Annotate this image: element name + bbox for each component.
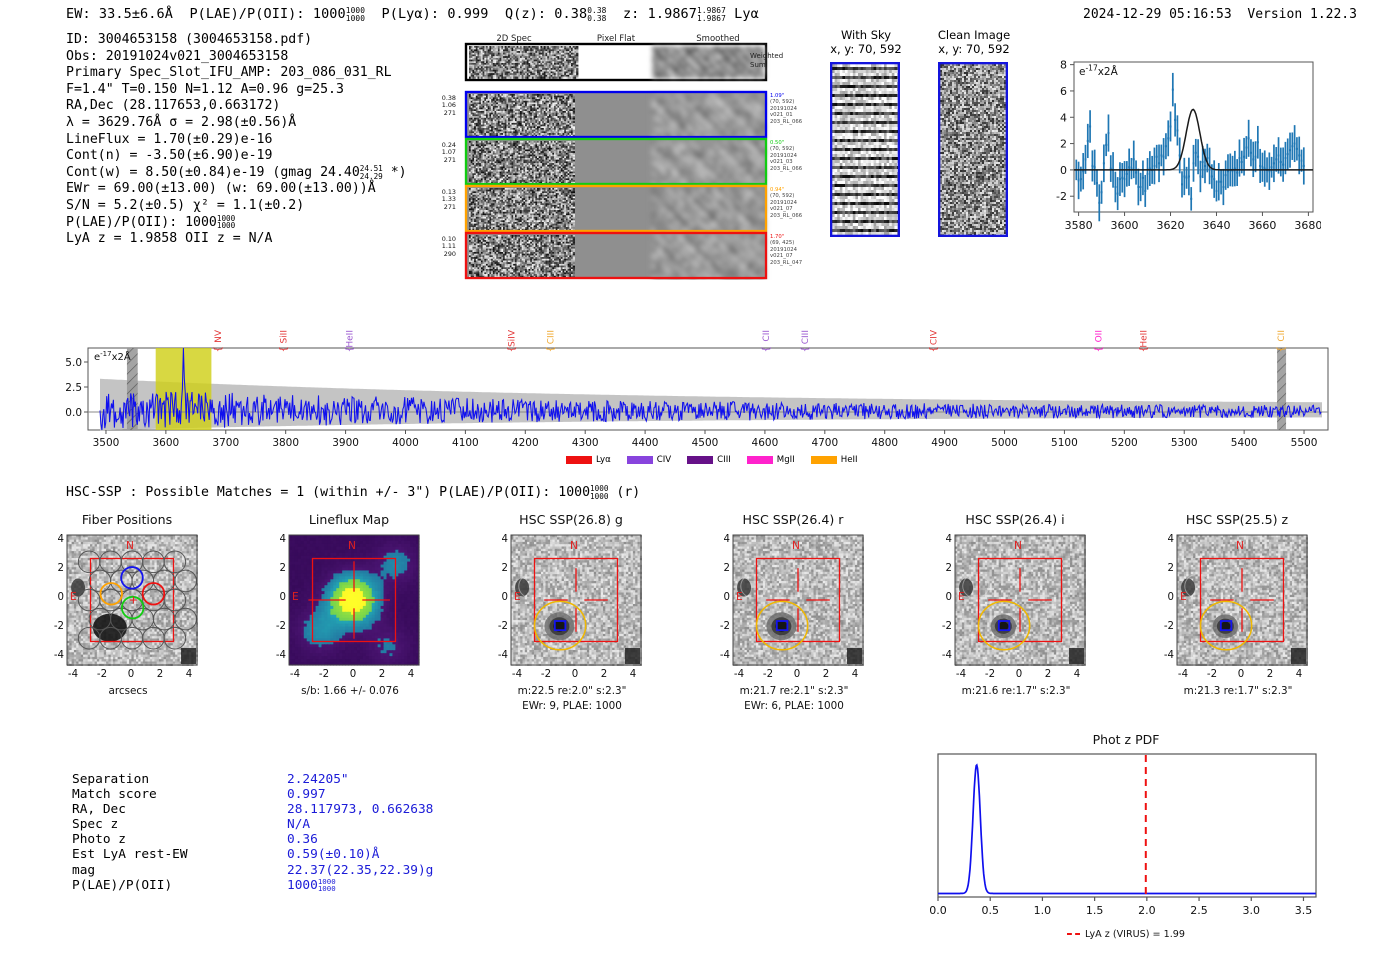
- cutout-title: HSC SSP(26.8) g: [476, 512, 666, 527]
- cutout-ytick: -4: [40, 650, 64, 661]
- timestamp-version: 2024-12-29 05:16:53 Version 1.22.3: [1083, 7, 1357, 22]
- cutout-xtick: -4: [59, 669, 87, 680]
- cutout-image-grey[interactable]: [1176, 534, 1308, 666]
- cutout-ytick: 0: [928, 592, 952, 603]
- match-table-value: 2.24205": [287, 772, 433, 787]
- cutout-xtick: 4: [175, 669, 203, 680]
- spec2d-row-metric: 0.131.33271: [412, 189, 456, 211]
- match-table-label: Est LyA rest-EW: [72, 847, 188, 862]
- cutout-ytick: 0: [1150, 592, 1174, 603]
- cutout-title: Lineflux Map: [254, 512, 444, 527]
- cutout-ytick: 2: [262, 563, 286, 574]
- info-primary-spec: Primary Spec_Slot_IFU_AMP: 203_086_031_R…: [66, 65, 407, 82]
- hsc-ssp-header: HSC-SSP : Possible Matches = 1 (within +…: [66, 485, 640, 501]
- info-cont-n: Cont(n) = -3.50(±6.90)e-19: [66, 148, 407, 165]
- spec2d-row-metric: 0.241.07271: [412, 142, 456, 164]
- compass-north: N: [1236, 540, 1244, 552]
- info-lambda: λ = 3629.76Å σ = 2.98(±0.56)Å: [66, 115, 407, 132]
- info-params: F=1.4" T=0.150 N=1.12 A=0.96 g=25.3: [66, 82, 407, 99]
- cutout-ytick: 0: [484, 592, 508, 603]
- info-z: LyA z = 1.9858 OII z = N/A: [66, 231, 407, 248]
- compass-east: E: [70, 591, 77, 603]
- spectrum-legend: LyαCIVCIIIMgIIHeII: [566, 455, 874, 466]
- header-z-range: 1.98671.9867: [697, 7, 726, 23]
- compass-north: N: [348, 540, 356, 552]
- info-obs: Obs: 20191024v021_3004653158: [66, 49, 407, 66]
- cutout-ytick: -2: [1150, 621, 1174, 632]
- cutout-caption-1: m:22.5 re:2.0" s:2.3": [472, 685, 672, 697]
- spec2d-row-metric: 0.101.11290: [412, 236, 456, 258]
- header-qz-range: 0.380.38: [587, 7, 606, 23]
- summary-header: EW: 33.5±6.6Å P(LAE)/P(OII): 10001000100…: [66, 6, 759, 23]
- weighted-sum-label: WeightedSum: [750, 52, 810, 70]
- match-table-label: Photo z: [72, 832, 188, 847]
- cutout-ytick: 2: [706, 563, 730, 574]
- cutout-ytick: -4: [1150, 650, 1174, 661]
- cutout-ytick: -2: [928, 621, 952, 632]
- cutout-xtick: -2: [1198, 669, 1226, 680]
- sky-panel-title: With Skyx, y: 70, 592: [818, 28, 914, 56]
- match-table-label: Match score: [72, 787, 188, 802]
- cutout-caption-1: arcsecs: [28, 685, 228, 697]
- cutout-xtick: 4: [397, 669, 425, 680]
- cutout-ytick: -4: [706, 650, 730, 661]
- cutout-xtick: -2: [532, 669, 560, 680]
- cutout-ytick: 4: [1150, 534, 1174, 545]
- cutout-ytick: -2: [706, 621, 730, 632]
- dashed-line-icon: [1067, 933, 1080, 935]
- timestamp: 2024-12-29 05:16:53: [1083, 7, 1232, 22]
- cutout-xtick: 0: [1005, 669, 1033, 680]
- compass-north: N: [1014, 540, 1022, 552]
- cutout-title: HSC SSP(26.4) i: [920, 512, 1110, 527]
- cutout-xtick: 2: [146, 669, 174, 680]
- sky-panel-with-sky: [830, 62, 900, 237]
- match-table-label: Spec z: [72, 817, 188, 832]
- cutout-caption-2: EWr: 9, PLAE: 1000: [472, 700, 672, 712]
- legend-swatch: [687, 456, 713, 464]
- cutout-ytick: 0: [40, 592, 64, 603]
- cutout-xtick: -4: [1169, 669, 1197, 680]
- info-ewr: EWr = 69.00(±13.00) (w: 69.00(±13.00))Å: [66, 181, 407, 198]
- cutout-xtick: -4: [281, 669, 309, 680]
- legend-label: CIV: [657, 455, 671, 465]
- cutout-xtick: 2: [368, 669, 396, 680]
- legend-swatch: [566, 456, 592, 464]
- legend-item: HeII: [811, 456, 874, 466]
- info-cont-w: Cont(w) = 8.50(±0.84)e-19 (gmag 24.4024.…: [66, 165, 407, 182]
- cutout-xtick: 4: [1285, 669, 1313, 680]
- header-qz: Q(z): 0.38: [505, 6, 587, 22]
- match-table-value: 0.36: [287, 832, 433, 847]
- cutout-xtick: 4: [619, 669, 647, 680]
- compass-east: E: [292, 591, 299, 603]
- compass-east: E: [736, 591, 743, 603]
- cutout-image-grey[interactable]: [510, 534, 642, 666]
- cutout-title: HSC SSP(25.5) z: [1142, 512, 1332, 527]
- cutout-xtick: 0: [339, 669, 367, 680]
- cutout-image-grey[interactable]: [954, 534, 1086, 666]
- cutout-row: Fiber Positions+NE420-2-4-4-2024arcsecsL…: [30, 512, 1370, 737]
- cutout-caption-1: s/b: 1.66 +/- 0.076: [250, 685, 450, 697]
- cutout-caption-2: EWr: 6, PLAE: 1000: [694, 700, 894, 712]
- cutout-xtick: -2: [88, 669, 116, 680]
- legend-label: Lyα: [596, 455, 611, 465]
- emission-line-zoom-plot: -202468358036003620364036603680e-17x2Å: [1036, 52, 1321, 242]
- compass-east: E: [514, 591, 521, 603]
- cutout-xtick: 2: [590, 669, 618, 680]
- phot-z-legend-label: LyA z (VIRUS) = 1.99: [1085, 929, 1185, 940]
- cutout-xtick: -4: [503, 669, 531, 680]
- match-table-label: RA, Dec: [72, 802, 188, 817]
- legend-item: Lyα: [566, 456, 627, 466]
- cutout-caption-1: m:21.6 re:1.7" s:2.3": [916, 685, 1116, 697]
- match-table-value: 22.37(22.35,22.39)g: [287, 863, 433, 878]
- match-table-label: P(LAE)/P(OII): [72, 878, 188, 893]
- cutout-ytick: 2: [40, 563, 64, 574]
- cutout-xtick: -4: [725, 669, 753, 680]
- cutout-xtick: -2: [754, 669, 782, 680]
- cutout-image-grey[interactable]: [732, 534, 864, 666]
- cutout-ytick: -2: [262, 621, 286, 632]
- match-table-label: mag: [72, 863, 188, 878]
- cutout-xtick: 0: [117, 669, 145, 680]
- header-z-type: Lyα: [734, 6, 759, 22]
- phot-z-legend: LyA z (VIRUS) = 1.99: [930, 929, 1322, 940]
- cutout-ytick: 2: [484, 563, 508, 574]
- legend-swatch: [627, 456, 653, 464]
- compass-north: N: [570, 540, 578, 552]
- cutout-xtick: -2: [976, 669, 1004, 680]
- cutout-xtick: 4: [1063, 669, 1091, 680]
- cutout-ytick: -4: [262, 650, 286, 661]
- header-z: z: 1.9867: [623, 6, 697, 22]
- info-sn: S/N = 5.2(±0.5) χ² = 1.1(±0.2): [66, 198, 407, 215]
- match-table-value: 100010001000: [287, 878, 433, 893]
- match-table-value: 0.59(±0.10)Å: [287, 847, 433, 862]
- cutout-image-fibers[interactable]: +: [66, 534, 198, 666]
- compass-east: E: [1180, 591, 1187, 603]
- cutout-ytick: 4: [928, 534, 952, 545]
- match-table-values: 2.24205"0.99728.117973, 0.662638N/A0.360…: [287, 772, 433, 893]
- phot-z-pdf-plot: Phot z PDF0.00.51.01.52.02.53.03.5LyA z …: [930, 728, 1322, 943]
- cutout-xtick: -2: [310, 669, 338, 680]
- sky-panel-title: Clean Imagex, y: 70, 592: [926, 28, 1022, 56]
- cutout-caption-1: m:21.3 re:1.7" s:2.3": [1138, 685, 1338, 697]
- match-table-value: 28.117973, 0.662638: [287, 802, 433, 817]
- version-label: Version 1.22.3: [1247, 7, 1357, 22]
- cutout-ytick: 2: [928, 563, 952, 574]
- full-spectrum-plot: 0.02.55.03500360037003800390040004100420…: [60, 312, 1340, 452]
- legend-label: MgII: [777, 455, 795, 465]
- cutout-xtick: 2: [812, 669, 840, 680]
- cutout-xtick: 0: [1227, 669, 1255, 680]
- info-lineflux: LineFlux = 1.70(±0.29)e-16: [66, 132, 407, 149]
- cutout-ytick: 4: [706, 534, 730, 545]
- cutout-xtick: 2: [1034, 669, 1062, 680]
- cutout-xtick: 0: [561, 669, 589, 680]
- legend-item: CIII: [687, 456, 747, 466]
- cutout-title: HSC SSP(26.4) r: [698, 512, 888, 527]
- cutout-ytick: 0: [706, 592, 730, 603]
- legend-swatch: [811, 456, 837, 464]
- cutout-title: Fiber Positions: [32, 512, 222, 527]
- cutout-ytick: -4: [484, 650, 508, 661]
- legend-label: CIII: [717, 455, 731, 465]
- match-table-value: N/A: [287, 817, 433, 832]
- cutout-ytick: -2: [484, 621, 508, 632]
- sky-panel-group: With Skyx, y: 70, 592Clean Imagex, y: 70…: [818, 28, 1028, 258]
- cutout-xtick: 4: [841, 669, 869, 680]
- match-table-label: Separation: [72, 772, 188, 787]
- source-info-block: ID: 3004653158 (3004653158.pdf) Obs: 201…: [66, 32, 407, 248]
- match-table-value: 0.997: [287, 787, 433, 802]
- spec2d-row-metric: 0.381.06271: [412, 95, 456, 117]
- legend-item: CIV: [627, 456, 687, 466]
- legend-item: MgII: [747, 456, 811, 466]
- cutout-ytick: 0: [262, 592, 286, 603]
- header-plae-range: 10001000: [346, 7, 365, 23]
- header-plya: P(Lyα): 0.999: [382, 6, 489, 22]
- info-plae: P(LAE)/P(OII): 100010001000: [66, 215, 407, 232]
- cutout-xtick: 2: [1256, 669, 1284, 680]
- info-id: ID: 3004653158 (3004653158.pdf): [66, 32, 407, 49]
- info-radec: RA,Dec (28.117653,0.663172): [66, 98, 407, 115]
- cutout-ytick: 4: [262, 534, 286, 545]
- spec2d-panel-group: 2D Spec Pixel Flat Smoothed WeightedSum …: [462, 30, 812, 280]
- cutout-ytick: -2: [40, 621, 64, 632]
- cutout-ytick: 4: [40, 534, 64, 545]
- cutout-ytick: -4: [928, 650, 952, 661]
- match-table-labels: SeparationMatch scoreRA, DecSpec zPhoto …: [72, 772, 188, 893]
- legend-label: HeII: [841, 455, 858, 465]
- header-plae: P(LAE)/P(OII): 1000: [189, 6, 345, 22]
- cutout-ytick: 4: [484, 534, 508, 545]
- cutout-xtick: -4: [947, 669, 975, 680]
- compass-east: E: [958, 591, 965, 603]
- header-ew: EW: 33.5±6.6Å: [66, 6, 173, 22]
- cutout-xtick: 0: [783, 669, 811, 680]
- cutout-image-lineflux[interactable]: [288, 534, 420, 666]
- compass-north: N: [126, 540, 134, 552]
- compass-north: N: [792, 540, 800, 552]
- cutout-caption-1: m:21.7 re:2.1" s:2.3": [694, 685, 894, 697]
- sky-panel-clean: [938, 62, 1008, 237]
- cutout-ytick: 2: [1150, 563, 1174, 574]
- legend-swatch: [747, 456, 773, 464]
